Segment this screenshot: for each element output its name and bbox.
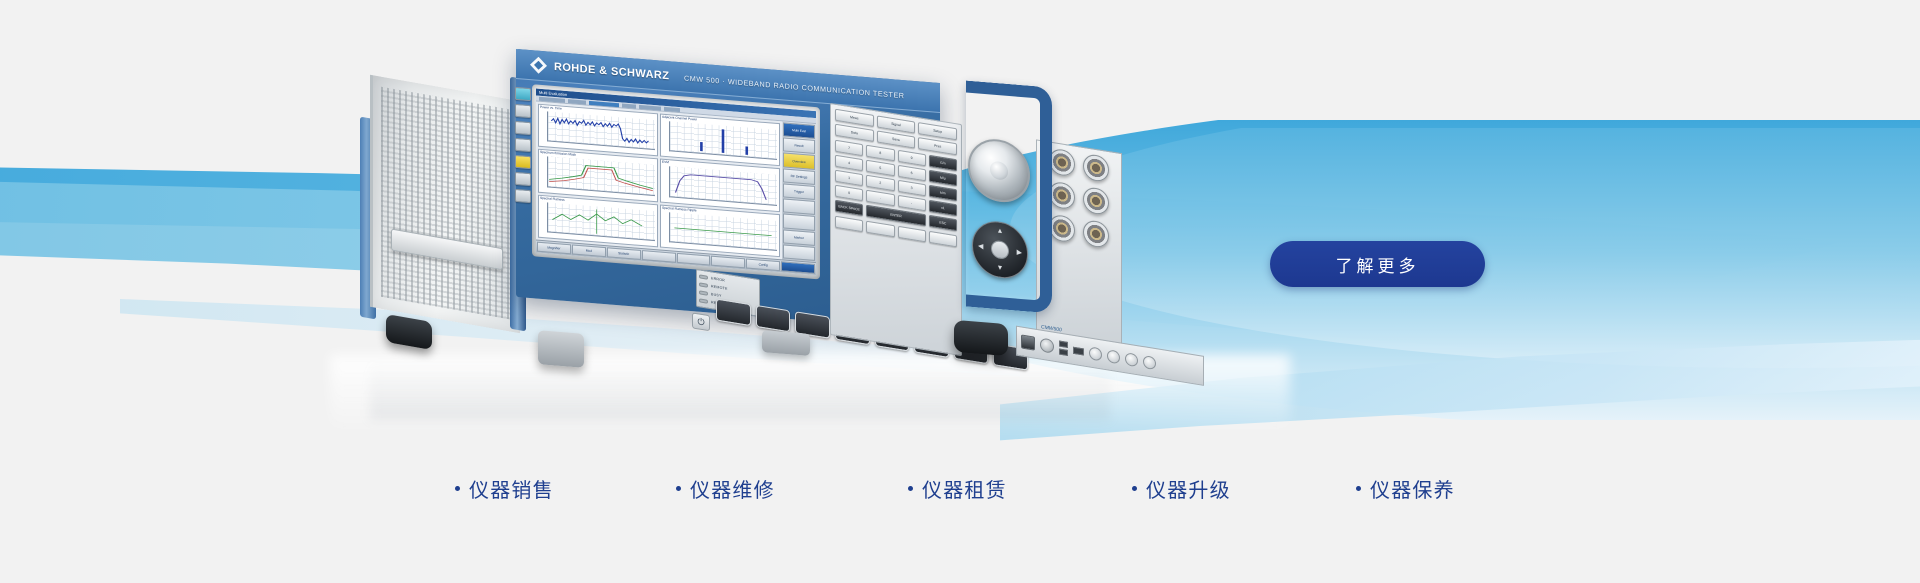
plot-trace xyxy=(669,212,777,251)
screen-footkey-5[interactable] xyxy=(711,256,745,269)
key-aux-4[interactable] xyxy=(929,231,957,248)
plot-power-vs-time: Power vs. Time xyxy=(538,104,658,157)
key-print[interactable]: Print xyxy=(918,137,957,155)
screen-footkey-3[interactable] xyxy=(642,250,676,263)
service-link-maintenance[interactable]: 仪器保养 xyxy=(1356,474,1455,503)
service-link-label: 仪器租赁 xyxy=(922,474,1007,503)
key-8[interactable]: 8 xyxy=(866,145,894,162)
screen-footkey-6[interactable]: Config xyxy=(746,258,780,271)
key-0[interactable]: 0 xyxy=(835,185,863,202)
plot-spectral-flatness: Spectral Flatness xyxy=(538,194,658,247)
service-link-rental[interactable]: 仪器租赁 xyxy=(908,474,1007,503)
usb-port-icon[interactable] xyxy=(1073,346,1084,355)
lan-port-icon[interactable] xyxy=(1021,334,1035,350)
chassis-foot-rear-left xyxy=(386,314,432,350)
bullet-icon xyxy=(1132,486,1137,491)
plot-trace xyxy=(669,121,777,160)
front-softkey-2[interactable] xyxy=(756,305,791,333)
rohde-schwarz-logo-icon xyxy=(530,56,547,74)
plot-trace xyxy=(547,111,655,150)
left-key-6[interactable] xyxy=(515,172,531,186)
reference-connector-icon[interactable] xyxy=(1040,337,1054,353)
plot-trace xyxy=(547,202,655,241)
toolbar-chip-6 xyxy=(664,106,680,111)
bullet-icon xyxy=(1356,486,1361,491)
power-button[interactable]: ⏻ xyxy=(692,312,710,331)
chassis-foot-front-left xyxy=(538,330,584,368)
af-connector-af1-out[interactable] xyxy=(1125,352,1138,367)
keypad-numeric-group[interactable]: 7 8 9 G/n 4 5 6 M/µ 1 2 3 k/m 0 . - x1 xyxy=(835,140,957,232)
chassis-foot-front-right xyxy=(954,320,1008,356)
device-model-label: CMW 500 · WIDEBAND RADIO COMMUNICATION T… xyxy=(684,73,905,100)
ventilation-grille xyxy=(381,87,510,320)
screen-softkey-6[interactable] xyxy=(783,214,815,231)
usb-port-icon[interactable] xyxy=(1059,341,1068,348)
key-1[interactable]: 1 xyxy=(835,170,863,187)
screen-softkey-1[interactable]: Result xyxy=(783,138,815,155)
screen-footkey-2[interactable]: Statistic xyxy=(607,247,641,260)
key-minus[interactable]: - xyxy=(898,195,926,212)
screen-softkey-7[interactable]: Marker xyxy=(783,229,815,246)
measurement-plot-grid: Power vs. Time Adjacent Channel Power xyxy=(536,102,782,260)
plot-evm: EVM xyxy=(660,159,780,212)
service-links: 仪器销售 仪器维修 仪器租赁 仪器升级 仪器保养 xyxy=(0,465,1920,511)
key-6[interactable]: 6 xyxy=(898,165,926,182)
left-key-1[interactable] xyxy=(515,87,531,101)
key-unit-m[interactable]: M/µ xyxy=(929,170,957,187)
key-9[interactable]: 9 xyxy=(898,150,926,167)
screen-footkey-0[interactable]: Magnifier xyxy=(537,242,571,255)
key-aux-3[interactable] xyxy=(898,226,926,243)
service-link-label: 仪器维修 xyxy=(690,474,775,503)
bullet-icon xyxy=(908,486,913,491)
service-link-sales[interactable]: 仪器销售 xyxy=(455,474,554,503)
lcd-screen[interactable]: Multi Evaluation Power vs. Time xyxy=(536,89,816,276)
rf-connector-rf1[interactable] xyxy=(1049,147,1075,177)
screen-footkey-4[interactable] xyxy=(677,253,711,266)
plot-spectral-flatness-ripple: Spectral Flatness Ripple xyxy=(660,204,780,257)
front-panel: ROHDE & SCHWARZ CMW 500 · WIDEBAND RADIO… xyxy=(516,49,940,331)
screen-body: Power vs. Time Adjacent Channel Power xyxy=(536,102,816,263)
rf-connector-rf2-out[interactable] xyxy=(1083,219,1109,249)
led-indicator-icon xyxy=(699,290,708,295)
key-backspace[interactable]: BACK SPACE xyxy=(835,200,863,217)
led-indicator-icon xyxy=(699,282,708,287)
left-key-3[interactable] xyxy=(515,121,531,135)
screen-softkey-column[interactable]: Multi Eval Result Overview RF Settings T… xyxy=(782,121,816,262)
key-3[interactable]: 3 xyxy=(898,180,926,197)
rf-connector-row-3 xyxy=(1041,212,1117,250)
key-save[interactable]: Save xyxy=(877,130,916,148)
key-unit-x1[interactable]: x1 xyxy=(929,200,957,217)
service-link-label: 仪器升级 xyxy=(1146,474,1231,503)
key-5[interactable]: 5 xyxy=(866,160,894,177)
af-connector-af1-in[interactable] xyxy=(1089,346,1102,361)
service-link-repair[interactable]: 仪器维修 xyxy=(676,474,775,503)
key-7[interactable]: 7 xyxy=(835,140,863,157)
plot-spectrum-emission-mask: Spectrum Emission Mask xyxy=(538,149,658,202)
device-reflection xyxy=(370,360,1110,420)
bullet-icon xyxy=(676,486,681,491)
rf-connector-rf4[interactable] xyxy=(1083,186,1109,216)
front-softkey-1[interactable] xyxy=(716,298,751,326)
toolbar-chip-4 xyxy=(622,103,636,108)
status-led-label: ERROR xyxy=(711,276,725,282)
rf-connector-row-2 xyxy=(1041,179,1117,217)
usb-port-icon[interactable] xyxy=(1059,349,1068,356)
left-key-2[interactable] xyxy=(515,104,531,118)
screen-softkey-5[interactable] xyxy=(783,199,815,216)
screen-softkey-8[interactable] xyxy=(783,244,815,261)
plot-adjacent-channel-power: Adjacent Channel Power xyxy=(660,114,780,167)
screen-softkey-0[interactable]: Multi Eval xyxy=(783,122,815,139)
power-icon: ⏻ xyxy=(697,316,704,328)
screen-footkey-1[interactable]: Mod xyxy=(572,244,606,257)
screen-footkey-7[interactable] xyxy=(781,261,815,274)
plot-caption: Spectral Flatness xyxy=(540,196,565,203)
learn-more-button[interactable]: 了解更多 xyxy=(1270,241,1485,287)
keypad-panel[interactable]: Meas Signal Setup Data Save Print 7 8 9 … xyxy=(830,103,962,356)
rf-connector-rf1-out[interactable] xyxy=(1049,213,1075,243)
service-link-label: 仪器保养 xyxy=(1370,474,1455,503)
toolbar-chip-2 xyxy=(568,99,586,104)
plot-trace xyxy=(669,167,777,206)
display-bezel: Multi Evaluation Power vs. Time xyxy=(532,84,820,279)
hero-banner: ROHDE & SCHWARZ CMW 500 · WIDEBAND RADIO… xyxy=(0,0,1920,583)
status-led-label: BUSY xyxy=(711,292,722,298)
left-key-5[interactable] xyxy=(515,155,531,169)
screen-softkey-3[interactable]: RF Settings xyxy=(783,168,815,185)
key-aux-1[interactable] xyxy=(835,216,863,233)
chassis-side-panel xyxy=(370,75,520,333)
service-link-label: 仪器销售 xyxy=(469,474,554,503)
screen-softkey-2[interactable]: Overview xyxy=(783,153,815,170)
af-connector-af2-out[interactable] xyxy=(1143,355,1156,370)
bullet-icon xyxy=(455,486,460,491)
rf-connector-rf3[interactable] xyxy=(1049,180,1075,210)
key-data[interactable]: Data xyxy=(835,124,874,142)
left-key-4[interactable] xyxy=(515,138,531,152)
key-unit-k[interactable]: k/m xyxy=(929,185,957,202)
carry-handle xyxy=(966,81,1052,314)
key-unit-g[interactable]: G/n xyxy=(929,155,957,172)
front-panel-left-keys[interactable] xyxy=(515,87,531,203)
product-image-cmw500: ROHDE & SCHWARZ CMW 500 · WIDEBAND RADIO… xyxy=(370,60,1110,380)
key-4[interactable]: 4 xyxy=(835,155,863,172)
usb-port-stack[interactable] xyxy=(1059,341,1068,356)
key-aux-2[interactable] xyxy=(866,221,894,238)
left-key-7[interactable] xyxy=(515,189,531,203)
key-dot[interactable]: . xyxy=(866,190,894,207)
af-connector-af2-in[interactable] xyxy=(1107,349,1120,364)
led-indicator-icon xyxy=(699,298,708,303)
brand-name: ROHDE & SCHWARZ xyxy=(554,61,669,82)
plot-caption: EVM xyxy=(662,160,669,166)
plot-caption: Power vs. Time xyxy=(540,105,562,112)
key-2[interactable]: 2 xyxy=(866,175,894,192)
plot-trace xyxy=(547,157,655,196)
rf-connector-rf2[interactable] xyxy=(1083,153,1109,183)
screen-softkey-4[interactable]: Trigger xyxy=(783,183,815,200)
rf-connector-row-1 xyxy=(1041,146,1117,184)
chassis-foot-mid xyxy=(762,330,810,356)
key-esc[interactable]: ESC xyxy=(929,215,957,232)
service-link-upgrade[interactable]: 仪器升级 xyxy=(1132,474,1231,503)
led-indicator-icon xyxy=(699,274,708,279)
